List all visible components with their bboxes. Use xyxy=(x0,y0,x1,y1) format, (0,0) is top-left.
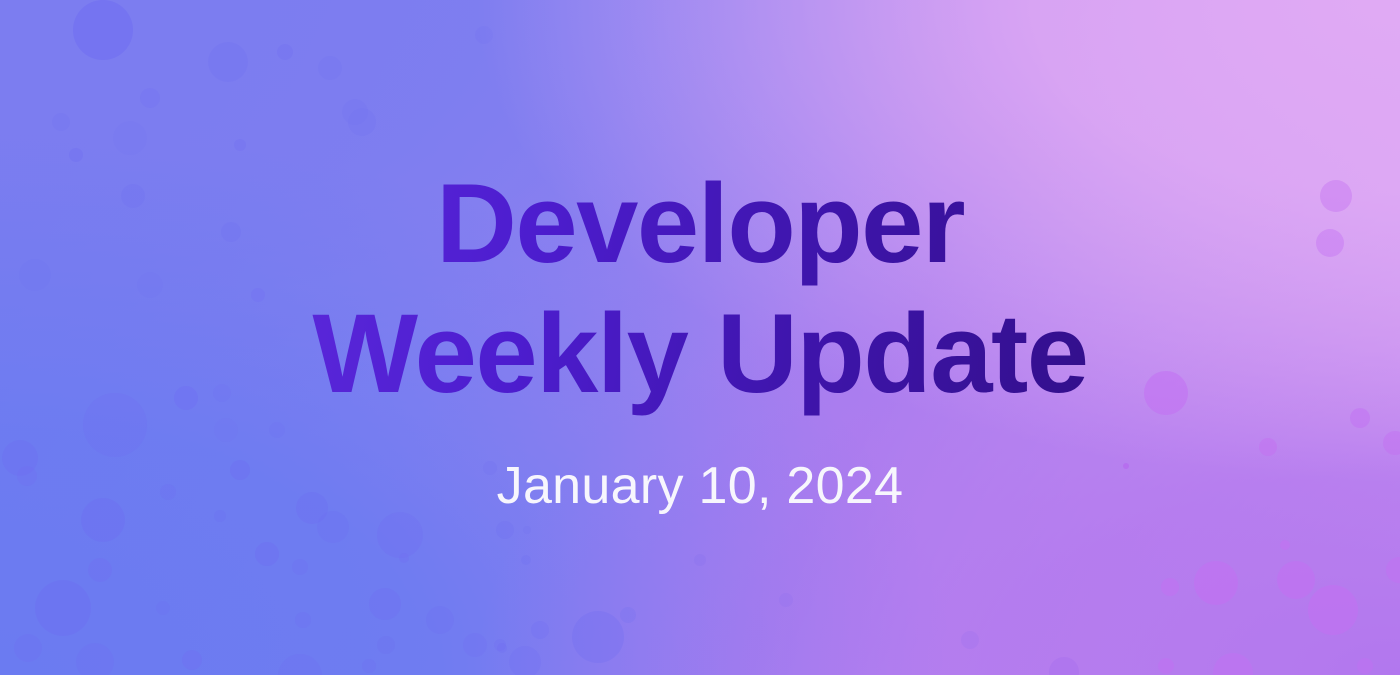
banner-content: Developer Weekly Update January 10, 2024 xyxy=(0,0,1400,675)
page-title: Developer Weekly Update xyxy=(312,159,1087,419)
issue-date: January 10, 2024 xyxy=(497,456,904,516)
weekly-update-banner: Developer Weekly Update January 10, 2024 xyxy=(0,0,1400,675)
